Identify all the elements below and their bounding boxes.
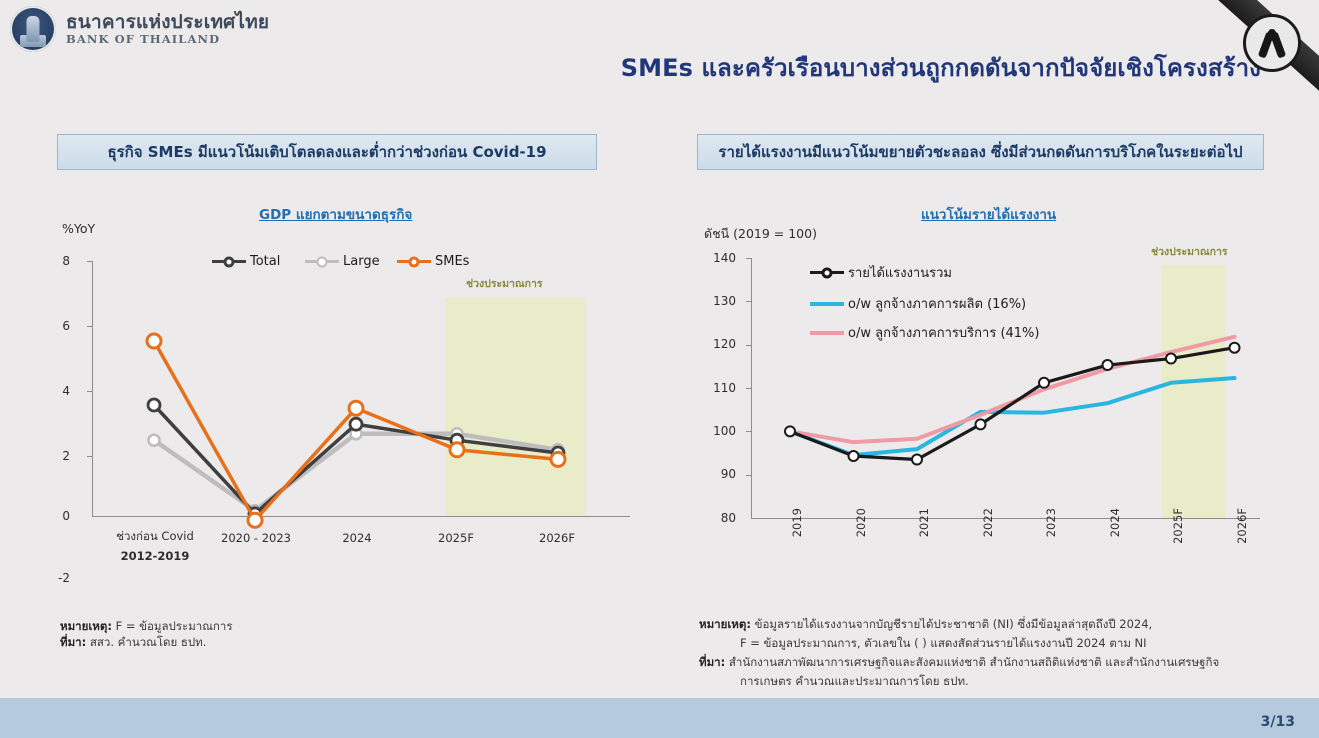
x-tick-right-3: 2022 — [981, 508, 995, 588]
note-right-3-label: ที่มา: — [699, 655, 725, 669]
slide-root: ธนาคารแห่งประเทศไทย BANK OF THAILAND SME… — [0, 0, 1319, 738]
plot-area-left — [92, 261, 630, 517]
note-right-2: F = ข้อมูลประมาณการ, ตัวเลขใน ( ) แสดงสั… — [740, 635, 1147, 651]
header-bar: ธนาคารแห่งประเทศไทย BANK OF THAILAND SME… — [0, 0, 1319, 96]
y-tick-left-3: 2 — [48, 449, 70, 463]
bot-seal-icon — [10, 6, 56, 52]
y-tick-right-4: 100 — [700, 424, 736, 438]
y-tick-left-1: 6 — [48, 319, 70, 333]
note-right-1-label: หมายเหตุ: — [699, 617, 751, 631]
note-right-1: หมายเหตุ: ข้อมูลรายได้แรงงานจากบัญชีรายไ… — [699, 616, 1152, 632]
panel-header-left: ธุรกิจ SMEs มีแนวโน้มเติบโตลดลงและต่ำกว่… — [57, 134, 597, 170]
chart-title-left: GDP แยกตามขนาดธุรกิจ — [259, 203, 412, 225]
x-tick-left-4: 2026F — [497, 531, 617, 545]
org-name-en: BANK OF THAILAND — [66, 32, 269, 46]
note-left-2-text: สสว. คำนวณโดย ธปท. — [90, 635, 207, 649]
x-tick-left-0-sub: 2012-2019 — [95, 549, 215, 563]
chart-title-right: แนวโน้มรายได้แรงงาน — [921, 203, 1056, 225]
x-tick-right-0: 2019 — [790, 508, 804, 588]
x-tick-right-6: 2025F — [1171, 508, 1185, 588]
y-tick-right-6: 80 — [700, 511, 736, 525]
page-title: SMEs และครัวเรือนบางส่วนถูกกดดันจากปัจจั… — [621, 48, 1261, 87]
bot-logo: ธนาคารแห่งประเทศไทย BANK OF THAILAND — [10, 6, 269, 52]
y-tick-right-1: 130 — [700, 294, 736, 308]
panel-header-right: รายได้แรงงานมีแนวโน้มขยายตัวชะลอลง ซึ่งม… — [697, 134, 1264, 170]
y-tick-right-0: 140 — [700, 251, 736, 265]
note-left-1: หมายเหตุ: F = ข้อมูลประมาณการ — [60, 618, 233, 634]
x-tick-right-2: 2021 — [917, 508, 931, 588]
y-tick-right-2: 120 — [700, 337, 736, 351]
y-axis-unit-right: ดัชนี (2019 = 100) — [704, 224, 817, 244]
x-tick-right-5: 2024 — [1108, 508, 1122, 588]
y-axis-unit-left: %YoY — [62, 221, 95, 236]
y-tick-left-4: 0 — [48, 509, 70, 523]
plot-area-right — [751, 258, 1260, 518]
note-right-3: ที่มา: สำนักงานสภาพัฒนาการเศรษฐกิจและสัง… — [699, 654, 1219, 670]
y-tick-left-0: 8 — [48, 254, 70, 268]
mourning-ribbon-icon — [1243, 14, 1301, 72]
note-left-2-label: ที่มา: — [60, 635, 86, 649]
footer-bar — [0, 698, 1319, 738]
x-tick-right-7: 2026F — [1235, 508, 1249, 588]
y-tick-right-5: 90 — [700, 467, 736, 481]
y-tick-right-3: 110 — [700, 381, 736, 395]
x-tick-right-4: 2023 — [1044, 508, 1058, 588]
note-left-1-text: F = ข้อมูลประมาณการ — [116, 619, 233, 633]
page-number: 3/13 — [1261, 714, 1295, 730]
note-right-1-text: ข้อมูลรายได้แรงงานจากบัญชีรายได้ประชาชาต… — [755, 617, 1153, 631]
note-right-4: การเกษตร คำนวณและประมาณการโดย ธปท. — [740, 673, 969, 689]
note-left-1-label: หมายเหตุ: — [60, 619, 112, 633]
y-tick-left-2: 4 — [48, 384, 70, 398]
x-tick-right-1: 2020 — [854, 508, 868, 588]
note-right-3-text: สำนักงานสภาพัฒนาการเศรษฐกิจและสังคมแห่งช… — [729, 655, 1219, 669]
note-left-2: ที่มา: สสว. คำนวณโดย ธปท. — [60, 634, 206, 650]
y-tick-left-5: -2 — [44, 571, 70, 585]
org-name-th: ธนาคารแห่งประเทศไทย — [66, 12, 269, 32]
